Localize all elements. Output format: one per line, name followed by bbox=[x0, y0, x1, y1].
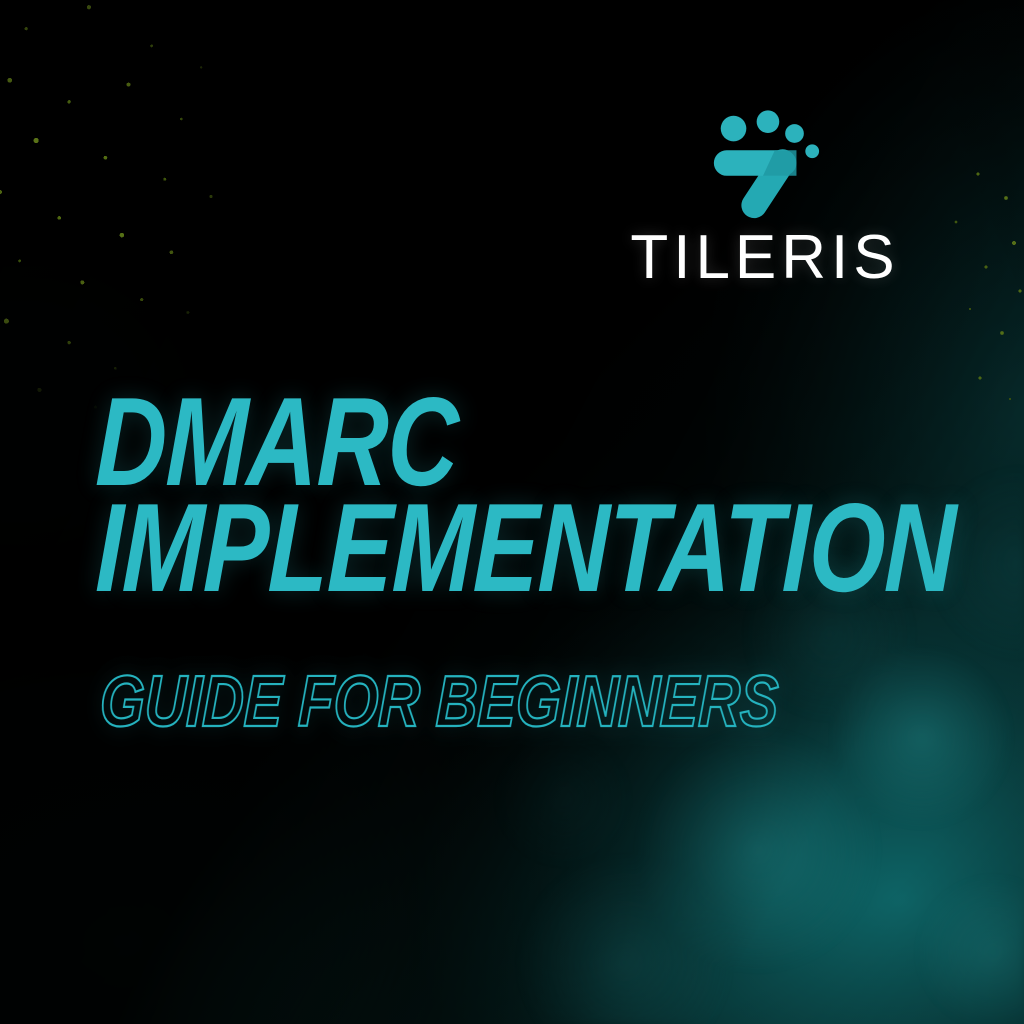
headline-line-2: IMPLEMENTATION bbox=[94, 488, 784, 608]
page-subtitle: GUIDE FOR BEGINNERS bbox=[99, 666, 779, 738]
brand-logo: TILERIS bbox=[600, 106, 930, 291]
tileris-seven-paw-logo-icon bbox=[706, 106, 824, 221]
background-speckle-top-left bbox=[0, 0, 310, 420]
page-title: DMARC IMPLEMENTATION bbox=[96, 382, 976, 607]
poster-canvas: TILERIS DMARC IMPLEMENTATION GUIDE FOR B… bbox=[0, 0, 1024, 1024]
brand-wordmark: TILERIS bbox=[630, 227, 899, 289]
